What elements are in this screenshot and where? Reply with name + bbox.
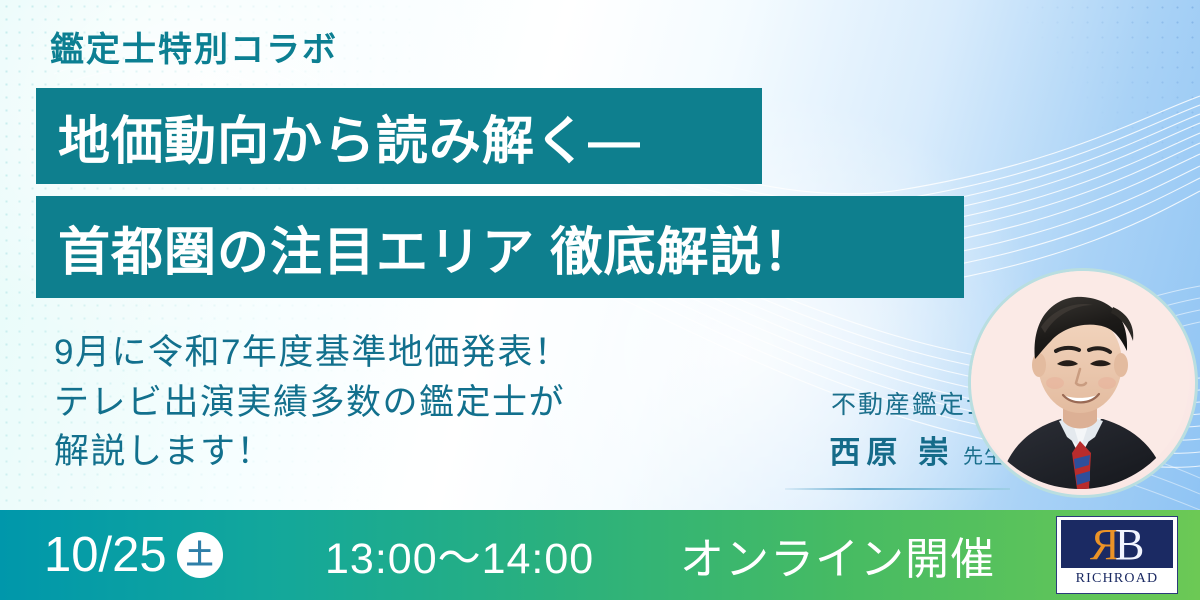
title-bar-line-1: 地価動向から読み解く― xyxy=(36,88,762,184)
event-date: 10/25 xyxy=(44,527,167,583)
description-block: 9月に令和7年度基準地価発表！ テレビ出演実績多数の鑑定士が 解説します！ xyxy=(54,328,570,477)
description-line-3: 解説します！ xyxy=(54,427,570,477)
title-line-2-text: 首都圏の注目エリア 徹底解説！ xyxy=(58,210,815,285)
speaker-underline-divider xyxy=(785,488,1010,490)
richroad-logo: R B RICHROAD xyxy=(1056,516,1178,594)
event-time: 13:00〜14:00 xyxy=(325,524,594,586)
description-line-2: テレビ出演実績多数の鑑定士が xyxy=(54,378,570,428)
speaker-name-row: 西原 崇 先生 xyxy=(745,427,1005,472)
eyebrow-label: 鑑定士特別コラボ xyxy=(50,22,338,71)
logo-letter-b: B xyxy=(1115,523,1144,567)
logo-monogram: R B xyxy=(1061,520,1173,568)
background-dot-texture-right xyxy=(1020,0,1200,170)
weekday-badge: 土 xyxy=(177,532,223,578)
event-date-group: 10/25 土 xyxy=(44,527,223,583)
speaker-role: 不動産鑑定士 xyxy=(745,385,993,421)
seminar-banner: 鑑定士特別コラボ 地価動向から読み解く― 首都圏の注目エリア 徹底解説！ 9月に… xyxy=(0,0,1200,600)
logo-wordmark: RICHROAD xyxy=(1076,568,1159,590)
event-info-bar: 10/25 土 13:00〜14:00 オンライン開催 R B RICHROAD xyxy=(0,510,1200,600)
description-line-1: 9月に令和7年度基準地価発表！ xyxy=(54,328,570,378)
title-bar-line-2: 首都圏の注目エリア 徹底解説！ xyxy=(36,196,964,298)
speaker-name: 西原 崇 xyxy=(829,427,955,472)
title-line-1-text: 地価動向から読み解く― xyxy=(58,99,641,174)
speaker-portrait-avatar xyxy=(968,268,1198,498)
event-format: オンライン開催 xyxy=(680,523,995,587)
speaker-block: 不動産鑑定士 西原 崇 先生 xyxy=(745,385,1005,472)
